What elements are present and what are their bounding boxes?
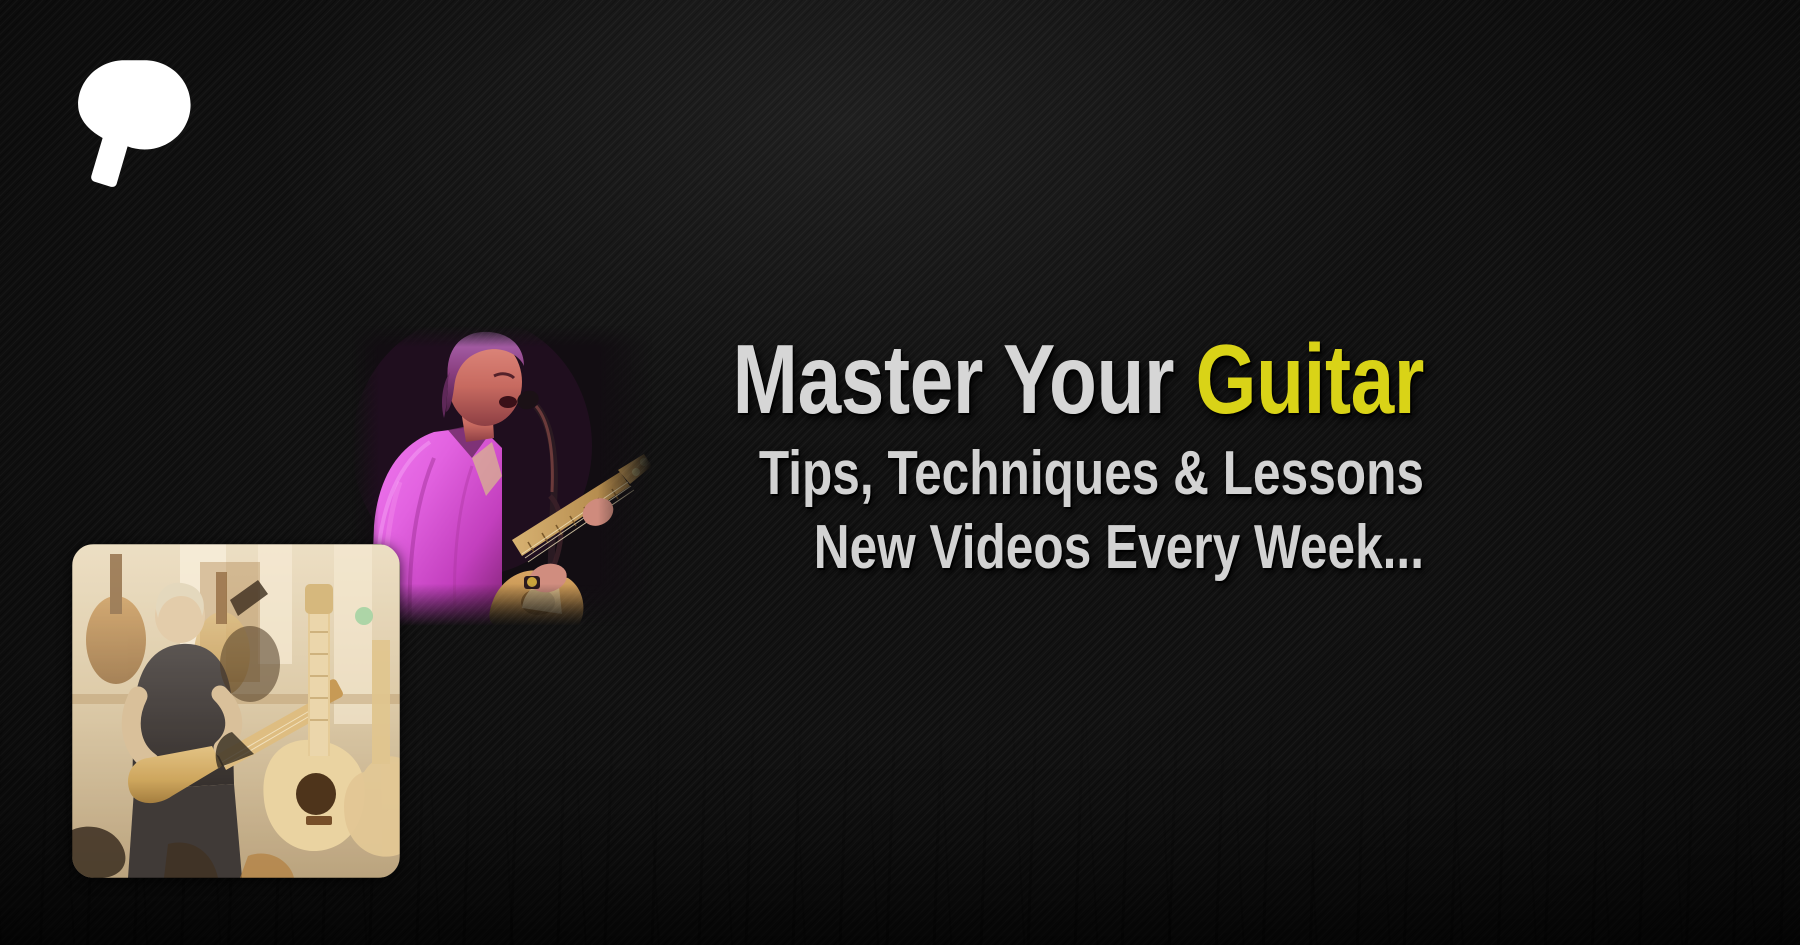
patreon-creator-banner: Master Your Guitar Tips, Techniques & Le… (0, 0, 1800, 945)
hero-subline-1: Tips, Techniques & Lessons (285, 438, 1424, 510)
page-headline: Master Your Guitar (285, 330, 1424, 428)
hero-subline-2: New Videos Every Week... (285, 512, 1424, 584)
headline-plain: Master Your (733, 324, 1174, 434)
patreon-logo-icon (72, 58, 192, 188)
patreon-logo[interactable] (72, 58, 192, 188)
creator-avatar-photo (72, 544, 400, 878)
creator-avatar[interactable] (72, 544, 400, 878)
headline-accent: Guitar (1196, 324, 1424, 434)
